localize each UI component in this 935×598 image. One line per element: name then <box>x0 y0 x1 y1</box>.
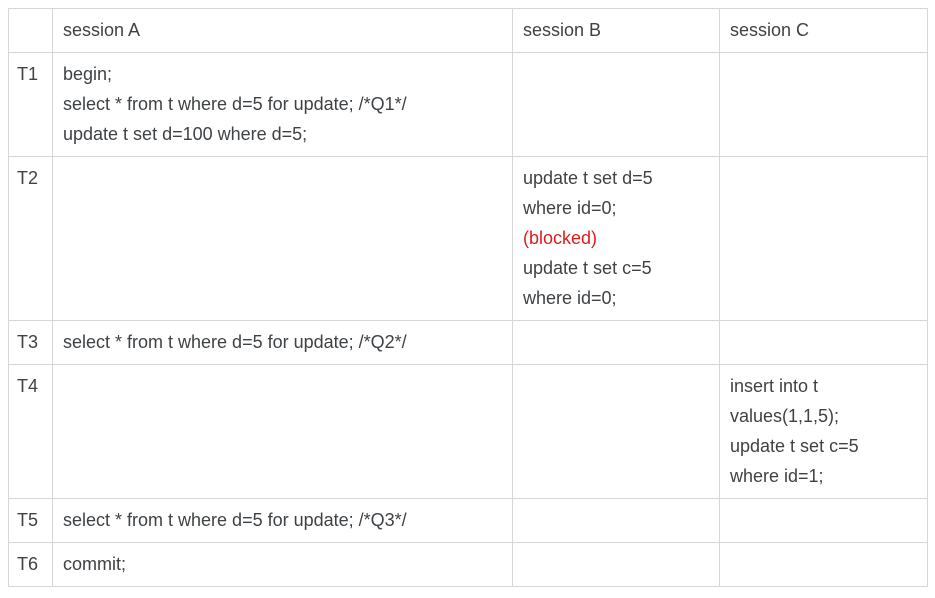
sql-statements-after-block: update t set c=5 where id=0; <box>523 258 652 308</box>
table-row: T4 insert into t values(1,1,5); update t… <box>9 365 928 499</box>
session-c-cell-t3 <box>720 321 928 365</box>
time-label: T5 <box>9 499 52 542</box>
sql-statements-before-block: update t set d=5 where id=0; <box>523 168 653 218</box>
session-a-cell-t2 <box>53 157 513 321</box>
time-cell-t2: T2 <box>9 157 53 321</box>
time-cell-t4: T4 <box>9 365 53 499</box>
sql-statements: commit; <box>53 543 512 586</box>
table-header-row: session A session B session C <box>9 9 928 53</box>
column-header-session-b: session B <box>513 9 720 53</box>
time-cell-t6: T6 <box>9 543 53 587</box>
session-b-cell-t1 <box>513 53 720 157</box>
transaction-timeline-sheet: session A session B session C T1 begin; … <box>8 8 927 587</box>
time-label: T4 <box>9 365 52 408</box>
session-c-cell-t5 <box>720 499 928 543</box>
time-label: T1 <box>9 53 52 96</box>
table-row: T3 select * from t where d=5 for update;… <box>9 321 928 365</box>
column-header-session-c: session C <box>720 9 928 53</box>
sql-statements: begin; select * from t where d=5 for upd… <box>53 53 512 156</box>
table-row: T5 select * from t where d=5 for update;… <box>9 499 928 543</box>
session-a-cell-t3: select * from t where d=5 for update; /*… <box>53 321 513 365</box>
table-row: T2 update t set d=5 where id=0; (blocked… <box>9 157 928 321</box>
session-b-cell-t3 <box>513 321 720 365</box>
column-header-session-b-label: session B <box>513 9 719 52</box>
time-label: T2 <box>9 157 52 200</box>
session-a-cell-t1: begin; select * from t where d=5 for upd… <box>53 53 513 157</box>
session-b-statement-group: update t set d=5 where id=0; (blocked) u… <box>513 157 719 320</box>
session-c-cell-t2 <box>720 157 928 321</box>
session-b-cell-t5 <box>513 499 720 543</box>
session-c-cell-t6 <box>720 543 928 587</box>
time-cell-t3: T3 <box>9 321 53 365</box>
column-header-time <box>9 9 53 53</box>
column-header-session-a: session A <box>53 9 513 53</box>
blocked-status: (blocked) <box>523 228 597 248</box>
column-header-session-a-label: session A <box>53 9 512 52</box>
session-a-cell-t4 <box>53 365 513 499</box>
time-label: T6 <box>9 543 52 586</box>
transaction-timeline-table: session A session B session C T1 begin; … <box>8 8 928 587</box>
table-row: T6 commit; <box>9 543 928 587</box>
time-label: T3 <box>9 321 52 364</box>
time-cell-t5: T5 <box>9 499 53 543</box>
session-c-cell-t4: insert into t values(1,1,5); update t se… <box>720 365 928 499</box>
column-header-time-label <box>9 9 52 52</box>
session-b-cell-t6 <box>513 543 720 587</box>
table-header: session A session B session C <box>9 9 928 53</box>
sql-statements: insert into t values(1,1,5); update t se… <box>720 365 927 498</box>
sql-statements: select * from t where d=5 for update; /*… <box>53 499 512 542</box>
session-b-cell-t4 <box>513 365 720 499</box>
table-row: T1 begin; select * from t where d=5 for … <box>9 53 928 157</box>
table-body: T1 begin; select * from t where d=5 for … <box>9 53 928 587</box>
session-a-cell-t6: commit; <box>53 543 513 587</box>
time-cell-t1: T1 <box>9 53 53 157</box>
sql-statements: select * from t where d=5 for update; /*… <box>53 321 512 364</box>
session-c-cell-t1 <box>720 53 928 157</box>
column-header-session-c-label: session C <box>720 9 927 52</box>
session-a-cell-t5: select * from t where d=5 for update; /*… <box>53 499 513 543</box>
session-b-cell-t2: update t set d=5 where id=0; (blocked) u… <box>513 157 720 321</box>
